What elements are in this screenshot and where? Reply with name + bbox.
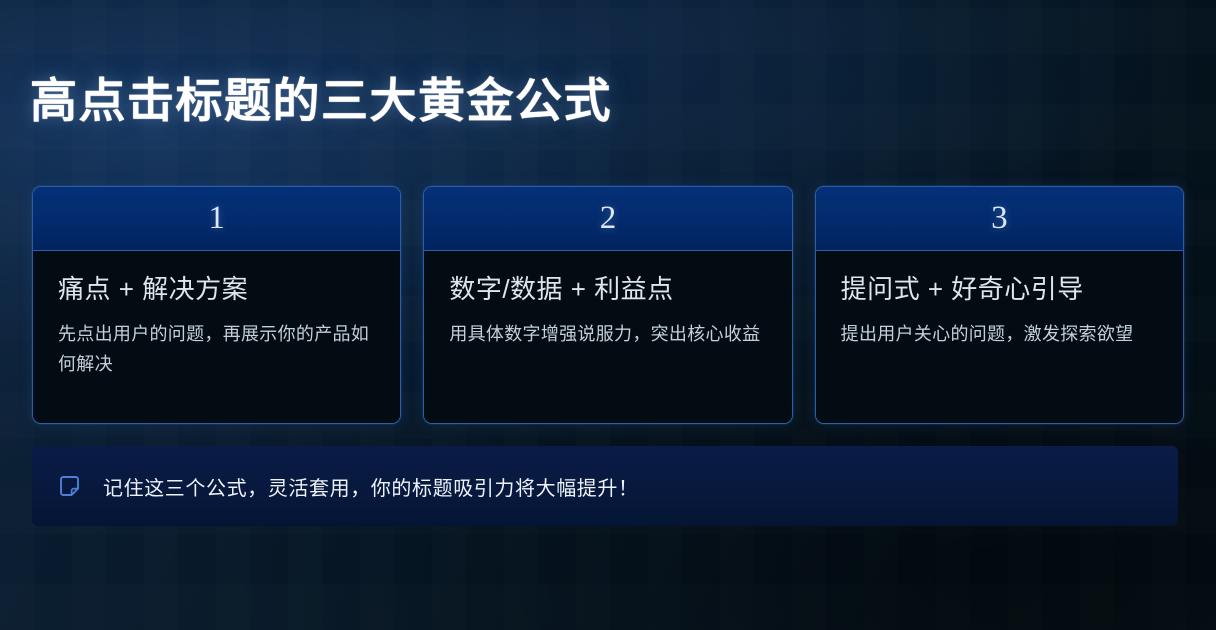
formula-card-1-header: 1 — [33, 187, 400, 251]
formula-card-3[interactable]: 3 提问式 + 好奇心引导 提出用户关心的问题，激发探索欲望 — [815, 186, 1184, 424]
summary-banner-text: 记住这三个公式，灵活套用，你的标题吸引力将大幅提升！ — [103, 472, 639, 501]
formula-card-2-header: 2 — [424, 187, 791, 251]
formula-card-1-title: 痛点 + 解决方案 — [58, 274, 378, 305]
formula-card-2-title: 数字/数据 + 利益点 — [449, 274, 769, 305]
page-title: 高点击标题的三大黄金公式 — [30, 62, 612, 131]
formula-card-3-body: 提问式 + 好奇心引导 提出用户关心的问题，激发探索欲望 — [816, 251, 1183, 423]
formula-card-2-number: 2 — [600, 202, 617, 235]
formula-card-2-description: 用具体数字增强说服力，突出核心收益 — [449, 319, 767, 349]
formula-card-1-description: 先点出用户的问题，再展示你的产品如何解决 — [58, 319, 376, 379]
slide-canvas: 高点击标题的三大黄金公式 1 痛点 + 解决方案 先点出用户的问题，再展示你的产… — [0, 0, 1216, 630]
formula-card-1[interactable]: 1 痛点 + 解决方案 先点出用户的问题，再展示你的产品如何解决 — [32, 186, 401, 424]
formula-card-1-number: 1 — [208, 202, 225, 235]
formula-card-1-body: 痛点 + 解决方案 先点出用户的问题，再展示你的产品如何解决 — [33, 251, 400, 423]
formula-card-3-header: 3 — [816, 187, 1183, 251]
summary-banner: 记住这三个公式，灵活套用，你的标题吸引力将大幅提升！ — [32, 446, 1178, 526]
formula-card-2-body: 数字/数据 + 利益点 用具体数字增强说服力，突出核心收益 — [424, 251, 791, 423]
note-icon — [58, 475, 81, 498]
formula-card-3-title: 提问式 + 好奇心引导 — [841, 274, 1161, 305]
formula-card-list: 1 痛点 + 解决方案 先点出用户的问题，再展示你的产品如何解决 2 数字/数据… — [32, 186, 1184, 424]
formula-card-3-number: 3 — [991, 202, 1008, 235]
formula-card-3-description: 提出用户关心的问题，激发探索欲望 — [841, 319, 1159, 349]
formula-card-2[interactable]: 2 数字/数据 + 利益点 用具体数字增强说服力，突出核心收益 — [423, 186, 792, 424]
